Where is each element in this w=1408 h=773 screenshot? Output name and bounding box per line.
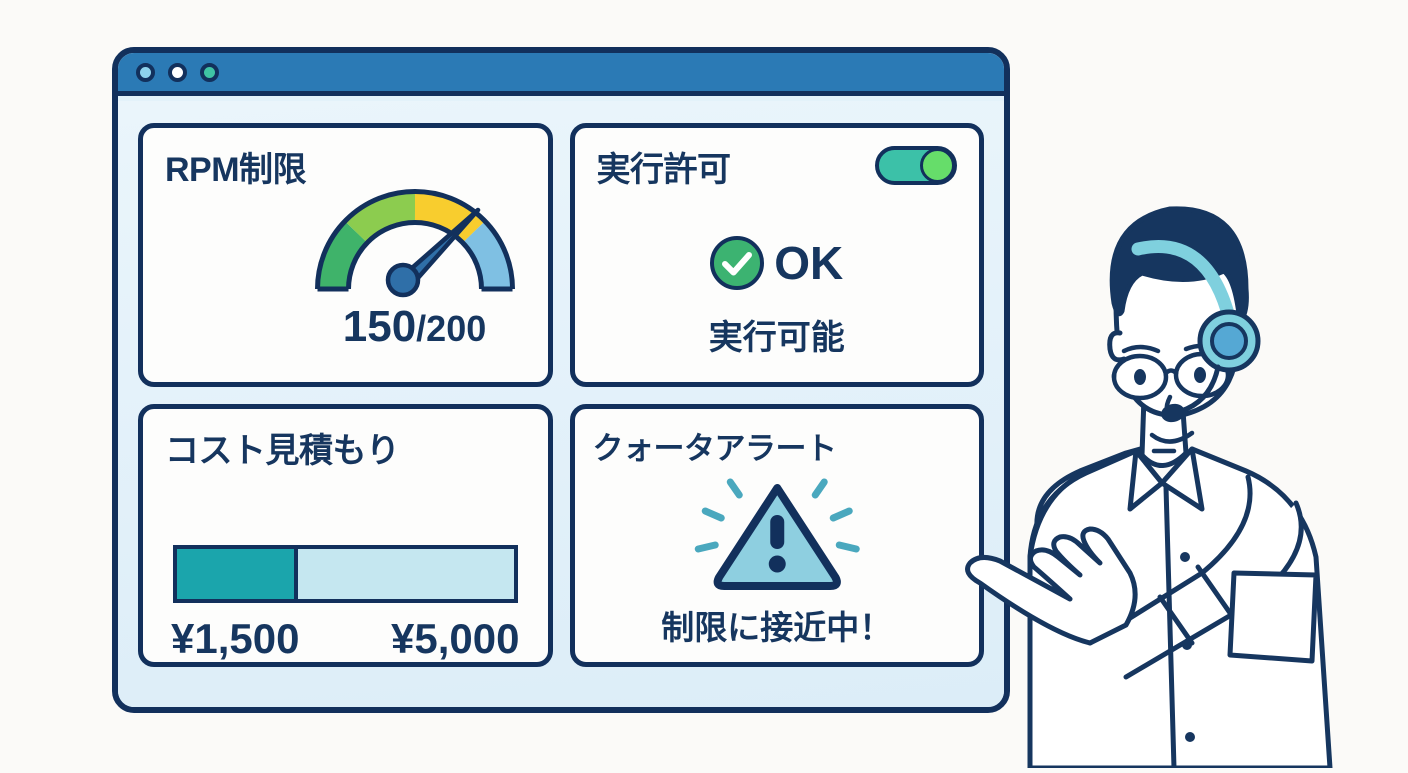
panel-quota-title: クォータアラート [593,423,837,468]
cost-current-label: ¥1,500 [171,615,299,663]
check-circle-icon [710,236,764,290]
rpm-gauge: 150/200 [300,154,530,354]
cost-progress-bar[interactable] [173,545,518,603]
execution-status-sublabel: 実行可能 [575,310,980,359]
close-dot[interactable] [200,63,219,82]
execution-status-row: OK [575,236,980,290]
status-badge: OK [774,236,843,290]
support-agent-illustration [930,105,1400,768]
gauge-current-value: 150 [343,302,416,351]
panel-quota-alert[interactable]: クォータアラート 制限に接近中！ [570,404,985,668]
panel-execution-permission[interactable]: 実行許可 OK 実行可能 [570,123,985,387]
panel-rpm-title: RPM制限 [165,142,306,191]
maximize-dot[interactable] [168,63,187,82]
panel-cost-title: コスト見積もり [165,423,400,472]
window-titlebar [118,53,1004,96]
gauge-value-label: 150/200 [300,302,530,352]
cost-labels: ¥1,500 ¥5,000 [171,615,520,663]
panel-cost-estimate[interactable]: コスト見積もり ¥1,500 ¥5,000 [138,404,553,668]
panel-rpm-limit[interactable]: RPM制限 [138,123,553,387]
minimize-dot[interactable] [136,63,155,82]
warning-triangle-icon [575,471,980,601]
dashboard-grid: RPM制限 [118,101,1004,707]
quota-alert-message: 制限に接近中！ [575,601,980,649]
cost-progress-fill [177,549,298,599]
browser-window: RPM制限 [112,47,1010,713]
gauge-max-value: /200 [416,308,486,349]
cost-max-label: ¥5,000 [391,615,519,663]
panel-exec-title: 実行許可 [597,142,731,191]
gauge-svg [300,154,530,314]
